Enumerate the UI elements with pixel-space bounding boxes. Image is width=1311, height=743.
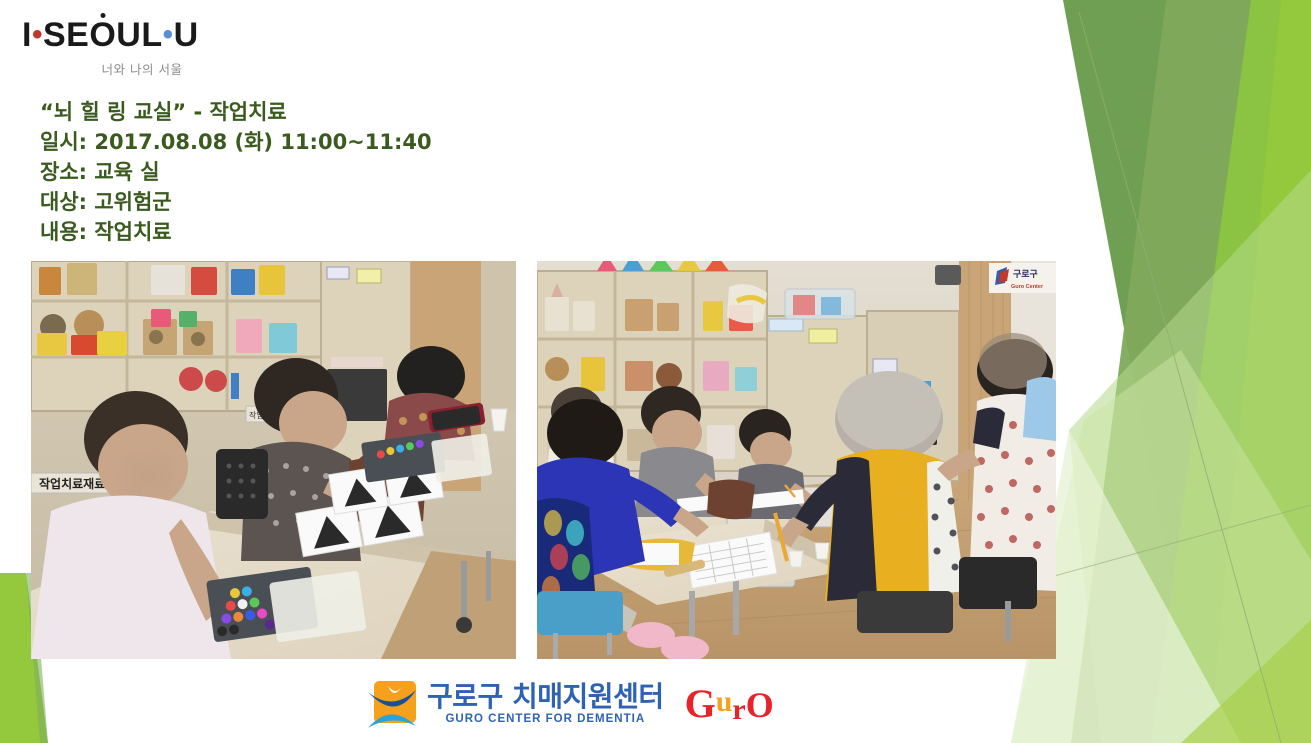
seoul-letter-u: U: [174, 16, 199, 54]
svg-text:Guro Center: Guro Center: [1011, 284, 1044, 290]
deco-shape-1: [1063, 0, 1311, 743]
slide-canvas: I•SEOUL•U 너와 나의 서울 “뇌 힐 링 교실” - 작업치료 일시:…: [0, 0, 1311, 743]
deco-shape-2: [1071, 0, 1311, 743]
seoul-dot-blue: •: [163, 18, 174, 51]
session-title: “뇌 힐 링 교실” - 작업치료: [40, 97, 432, 127]
deco-hairline-2: [1011, 505, 1311, 588]
svg-text:구로구: 구로구: [1013, 269, 1038, 280]
seoul-logo-subtitle: 너와 나의 서울: [22, 59, 262, 78]
seoul-letter-i: I: [22, 16, 32, 54]
photo-right-graphic: 구로구 Guro Center: [537, 261, 1056, 659]
guro-center-name-ko: 구로구 치매지원센터: [427, 683, 664, 711]
deco-shape-3: [1151, 0, 1311, 743]
guro-center-name: 구로구 치매지원센터 GURO CENTER FOR DEMENTIA: [427, 683, 664, 726]
deco-hairline-1: [1079, 12, 1281, 743]
guro-symbol-icon: [366, 678, 418, 730]
deco-shape-8: [1181, 620, 1311, 743]
svg-text:작업치료재료: 작업치료재료: [39, 476, 105, 491]
deco-shape-4: [1209, 0, 1311, 743]
guro-wordmark: GurO: [685, 684, 774, 725]
seoul-logo: I•SEOUL•U 너와 나의 서울: [22, 18, 262, 78]
seoul-wordmark: I•SEOUL•U: [22, 18, 262, 52]
seoul-dot-red: •: [32, 18, 43, 51]
guro-center-name-en: GURO CENTER FOR DEMENTIA: [445, 714, 645, 726]
session-target: 대상: 고위험군: [40, 187, 432, 217]
session-place: 장소: 교육 실: [40, 157, 432, 187]
session-photo-left: 작업치료재료 작업치료재료: [31, 261, 516, 659]
seoul-text-se: SE: [43, 16, 89, 54]
guro-wordmark-r: r: [732, 693, 745, 726]
seoul-letter-o: O: [89, 18, 116, 52]
guro-wordmark-g: G: [685, 681, 716, 726]
session-photo-right: 구로구 Guro Center: [537, 261, 1056, 659]
session-content: 내용: 작업치료: [40, 217, 432, 247]
session-datetime: 일시: 2017.08.08 (화) 11:00~11:40: [40, 127, 432, 157]
guro-symbol-svg: [366, 678, 418, 730]
session-info-block: “뇌 힐 링 교실” - 작업치료 일시: 2017.08.08 (화) 11:…: [40, 97, 432, 247]
guro-wordmark-o: O: [746, 685, 774, 725]
seoul-text-ul: UL: [116, 16, 162, 54]
deco-shape-5: [1069, 170, 1311, 743]
photo-left-graphic: 작업치료재료 작업치료재료: [31, 261, 516, 659]
guro-wordmark-u: u: [716, 685, 733, 718]
deco-shape-6: [1011, 350, 1311, 743]
guro-center-footer-logo: 구로구 치매지원센터 GURO CENTER FOR DEMENTIA GurO: [366, 676, 774, 732]
